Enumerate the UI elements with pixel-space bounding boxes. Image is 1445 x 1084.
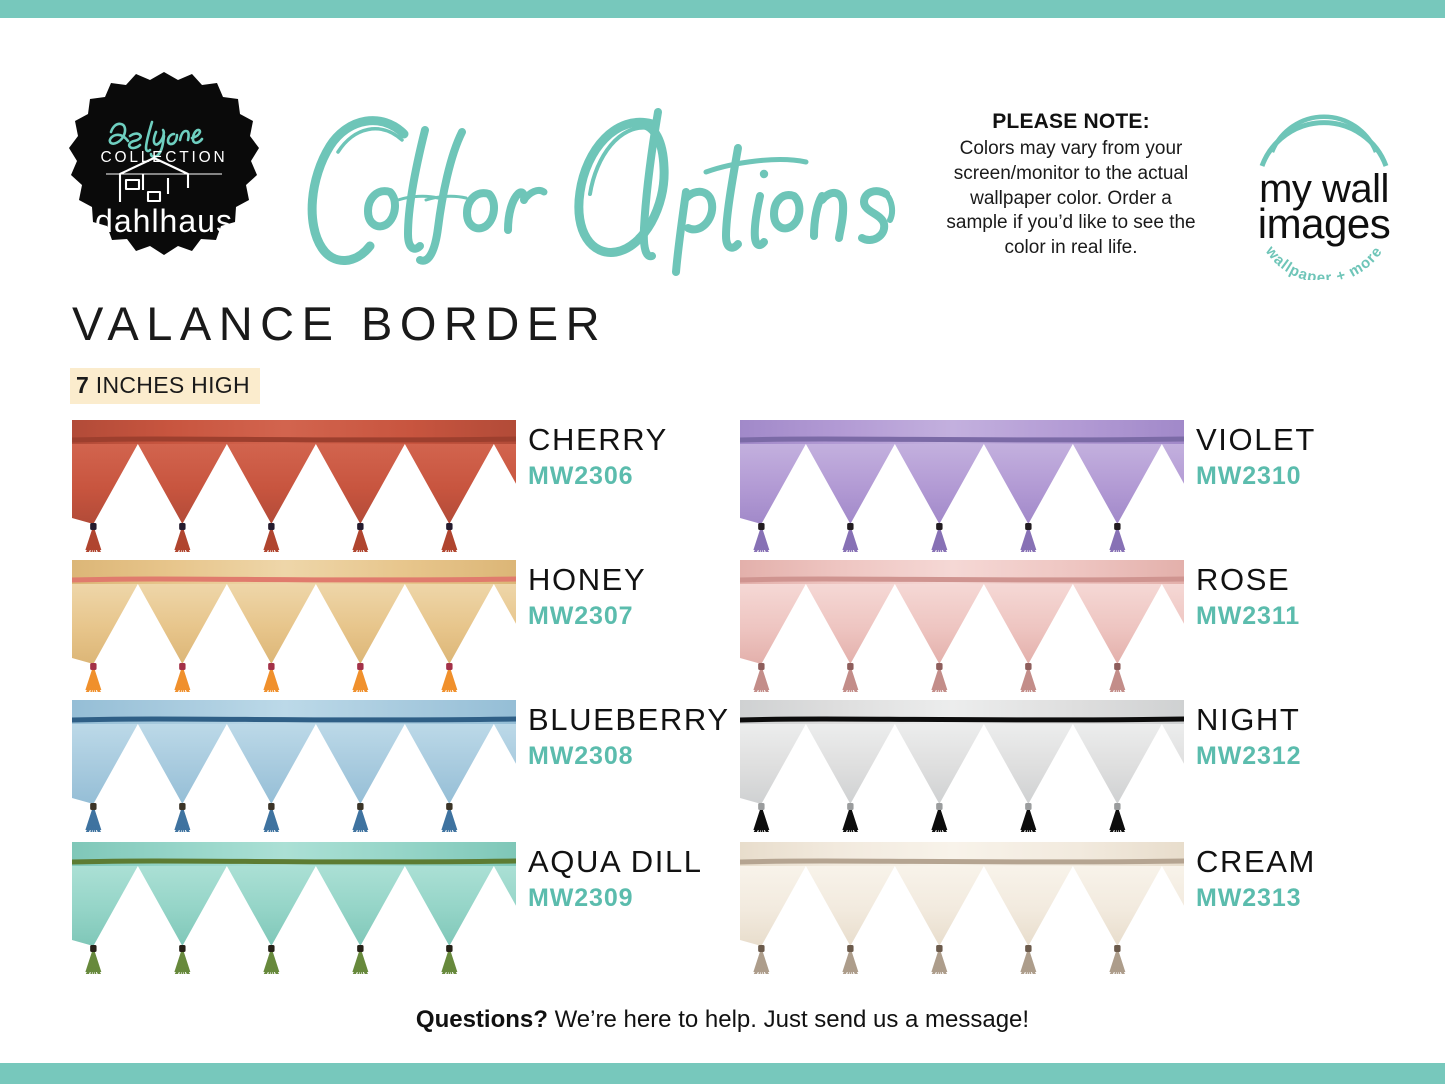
swatch-product-code: MW2310 xyxy=(1196,462,1426,491)
swatch-labels: NIGHTMW2312 xyxy=(1196,704,1426,771)
valance-pattern-swatch[interactable] xyxy=(72,420,516,552)
swatch-row[interactable]: NIGHTMW2312 xyxy=(740,700,1430,840)
swatch-product-code: MW2309 xyxy=(528,884,758,913)
swatch-row[interactable]: ROSEMW2311 xyxy=(740,560,1430,700)
swatch-color-name: CHERRY xyxy=(528,424,758,457)
valance-pattern-swatch[interactable] xyxy=(740,560,1184,692)
swatch-color-name: BLUEBERRY xyxy=(528,704,758,737)
valance-pattern-swatch[interactable] xyxy=(740,842,1184,974)
swatch-row[interactable]: CHERRYMW2306 xyxy=(72,420,762,560)
valance-pattern-swatch[interactable] xyxy=(740,700,1184,832)
swatch-color-name: VIOLET xyxy=(1196,424,1426,457)
swatch-product-code: MW2306 xyxy=(528,462,758,491)
swatch-labels: ROSEMW2311 xyxy=(1196,564,1426,631)
swatch-row[interactable]: VIOLETMW2310 xyxy=(740,420,1430,560)
swatch-product-code: MW2308 xyxy=(528,742,758,771)
swatch-product-code: MW2311 xyxy=(1196,602,1426,631)
bottom-accent-bar xyxy=(0,1063,1445,1084)
swatch-row[interactable]: HONEYMW2307 xyxy=(72,560,762,700)
swatch-color-name: HONEY xyxy=(528,564,758,597)
footer-rest: We’re here to help. Just send us a messa… xyxy=(548,1006,1029,1033)
swatch-labels: CREAMMW2313 xyxy=(1196,846,1426,913)
swatch-labels: BLUEBERRYMW2308 xyxy=(528,704,758,771)
swatch-product-code: MW2313 xyxy=(1196,884,1426,913)
swatch-labels: CHERRYMW2306 xyxy=(528,424,758,491)
valance-pattern-swatch[interactable] xyxy=(72,560,516,692)
swatch-product-code: MW2312 xyxy=(1196,742,1426,771)
valance-pattern-swatch[interactable] xyxy=(72,842,516,974)
valance-pattern-swatch[interactable] xyxy=(72,700,516,832)
color-swatch-grid: CHERRYMW2306 HONEYMW2307 BLUEBERRYMW2308 xyxy=(0,0,1445,1084)
swatch-labels: AQUA DILLMW2309 xyxy=(528,846,758,913)
swatch-product-code: MW2307 xyxy=(528,602,758,631)
swatch-color-name: ROSE xyxy=(1196,564,1426,597)
valance-pattern-swatch[interactable] xyxy=(740,420,1184,552)
footer-message: Questions? We’re here to help. Just send… xyxy=(0,1006,1445,1034)
swatch-color-name: NIGHT xyxy=(1196,704,1426,737)
swatch-row[interactable]: BLUEBERRYMW2308 xyxy=(72,700,762,840)
swatch-color-name: CREAM xyxy=(1196,846,1426,879)
swatch-color-name: AQUA DILL xyxy=(528,846,758,879)
swatch-labels: HONEYMW2307 xyxy=(528,564,758,631)
footer-lead: Questions? xyxy=(416,1006,548,1033)
swatch-row[interactable]: AQUA DILLMW2309 xyxy=(72,842,762,982)
swatch-labels: VIOLETMW2310 xyxy=(1196,424,1426,491)
swatch-row[interactable]: CREAMMW2313 xyxy=(740,842,1430,982)
